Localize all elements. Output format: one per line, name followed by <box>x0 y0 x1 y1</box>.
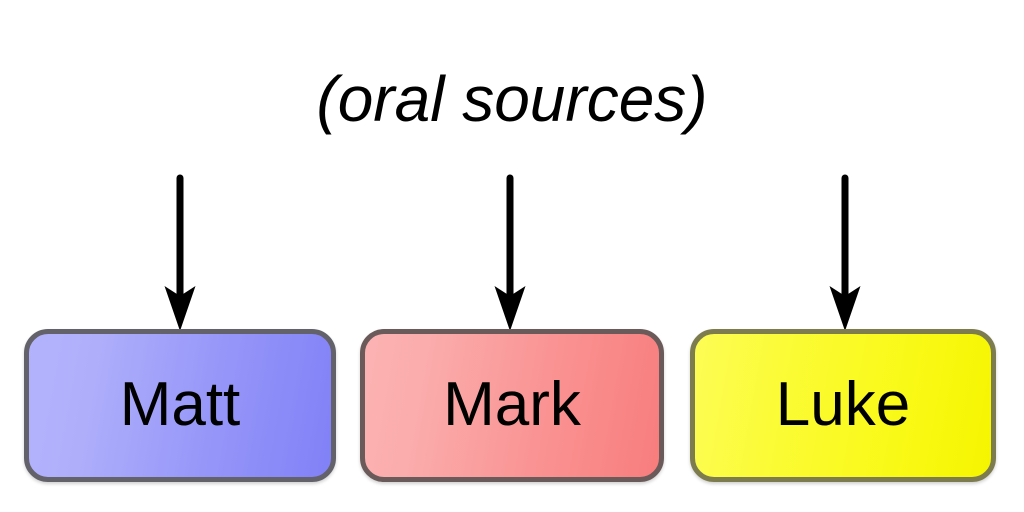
diagram-canvas: (oral sources) Matt Mark Luke <box>0 0 1024 512</box>
node-matt-label: Matt <box>120 374 241 436</box>
node-luke[interactable]: Luke <box>690 329 996 482</box>
arrow-to-matt <box>165 178 196 331</box>
node-matt[interactable]: Matt <box>24 329 336 482</box>
arrow-to-luke <box>830 178 861 331</box>
node-mark-label: Mark <box>443 374 581 436</box>
node-luke-label: Luke <box>776 374 910 436</box>
arrow-to-mark <box>495 178 526 331</box>
node-mark[interactable]: Mark <box>360 329 664 482</box>
